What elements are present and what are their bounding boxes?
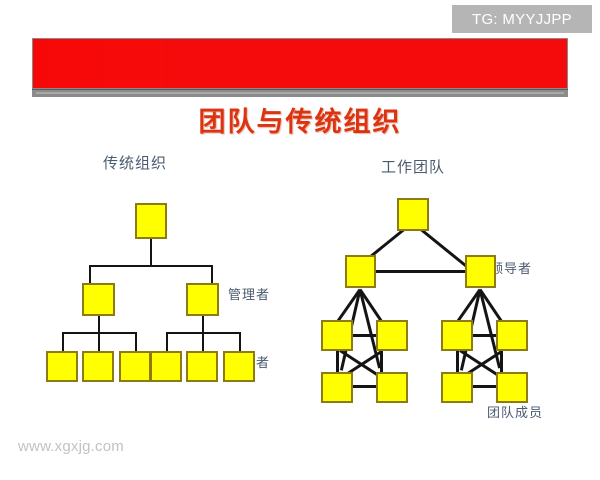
- heading-traditional: 传统组织: [103, 152, 167, 173]
- edge-manager-left-down: [98, 315, 100, 333]
- node-member-8: [496, 372, 528, 403]
- node-manager-1: [82, 283, 115, 316]
- node-member-4: [376, 372, 408, 403]
- node-worker-1: [46, 351, 78, 382]
- banner-red-bar: [32, 38, 568, 89]
- banner-base-bar: [32, 89, 568, 97]
- annotation-leader: 领导者: [490, 258, 532, 277]
- heading-team: 工作团队: [381, 156, 445, 177]
- annotation-manager: 管理者: [228, 284, 270, 303]
- node-member-6: [496, 320, 528, 351]
- node-member-1: [321, 320, 353, 351]
- node-manager-2: [186, 283, 219, 316]
- edge-bus-to-manager-right: [211, 265, 213, 285]
- node-worker-2: [82, 351, 114, 382]
- edge-worker-stem-2: [98, 332, 100, 352]
- node-member-7: [441, 372, 473, 403]
- watermark-footer: www.xgxjg.com: [18, 438, 124, 455]
- node-member-3: [321, 372, 353, 403]
- title-banner: [32, 38, 568, 96]
- edge-worker-stem-5: [202, 332, 204, 352]
- node-leader-1: [345, 255, 376, 288]
- edge-level1-bus: [89, 265, 213, 267]
- node-leader-2: [465, 255, 496, 288]
- node-worker-3: [119, 351, 151, 382]
- page-title: 团队与传统组织: [0, 100, 600, 139]
- edge-root-down: [150, 238, 152, 266]
- slide-canvas: TG: MYYJJPP 团队与传统组织 传统组织 管理者 执行者 工作团队: [0, 0, 600, 480]
- edge-worker-stem-4: [166, 332, 168, 352]
- node-member-5: [441, 320, 473, 351]
- node-member-2: [376, 320, 408, 351]
- node-worker-5: [186, 351, 218, 382]
- node-traditional-top: [135, 203, 167, 239]
- edge-worker-stem-3: [135, 332, 137, 352]
- edge-worker-stem-1: [62, 332, 64, 352]
- edge-leader-to-leader: [374, 270, 468, 273]
- node-team-top: [397, 198, 429, 231]
- annotation-member: 团队成员: [487, 402, 543, 421]
- edge-manager-right-down: [202, 315, 204, 333]
- node-worker-4: [150, 351, 182, 382]
- node-worker-6: [223, 351, 255, 382]
- edge-worker-stem-6: [239, 332, 241, 352]
- edge-team-root-to-leader-right: [420, 228, 469, 269]
- edge-bus-to-manager-left: [89, 265, 91, 285]
- watermark-badge: TG: MYYJJPP: [452, 5, 592, 33]
